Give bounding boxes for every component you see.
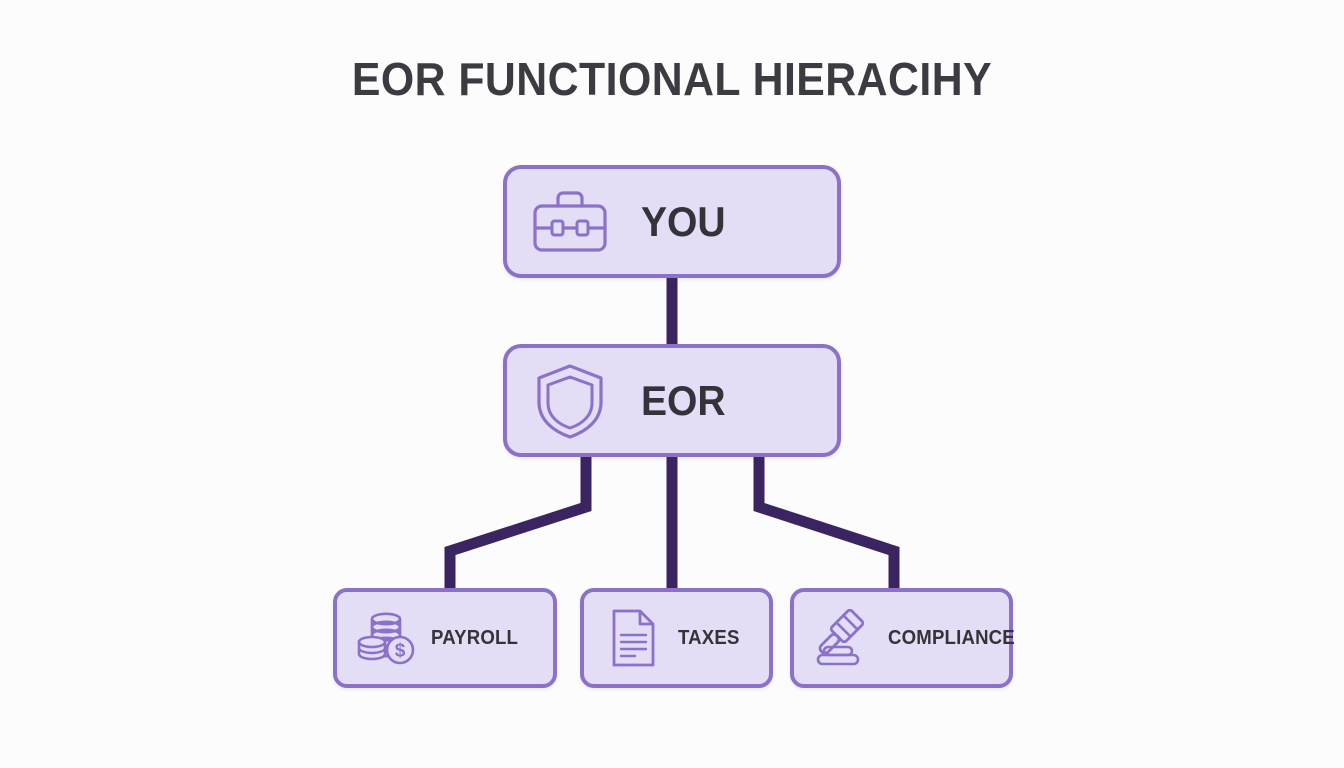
diagram-canvas: EOR FUNCTIONAL HIERACIHY YOU <box>0 0 1344 768</box>
node-taxes-label: TAXES <box>678 627 740 650</box>
gavel-icon <box>812 609 874 667</box>
coins-dollar-icon: $ <box>355 609 417 667</box>
svg-text:$: $ <box>395 641 406 662</box>
node-eor-label: EOR <box>641 377 726 425</box>
node-eor[interactable]: EOR <box>503 344 841 457</box>
node-taxes[interactable]: TAXES <box>580 588 773 688</box>
node-compliance[interactable]: COMPLIANCE <box>790 588 1013 688</box>
page-title: EOR FUNCTIONAL HIERACIHY <box>47 52 1297 106</box>
node-payroll-label: PAYROLL <box>431 627 518 650</box>
connector-eor-to-compliance <box>759 457 894 588</box>
shield-icon <box>527 365 613 437</box>
node-payroll[interactable]: $ PAYROLL <box>333 588 557 688</box>
node-compliance-label: COMPLIANCE <box>888 627 1015 650</box>
document-icon <box>602 609 664 667</box>
connector-eor-to-payroll <box>450 457 586 588</box>
node-you[interactable]: YOU <box>503 165 841 278</box>
node-you-label: YOU <box>641 198 726 246</box>
briefcase-icon <box>527 186 613 258</box>
